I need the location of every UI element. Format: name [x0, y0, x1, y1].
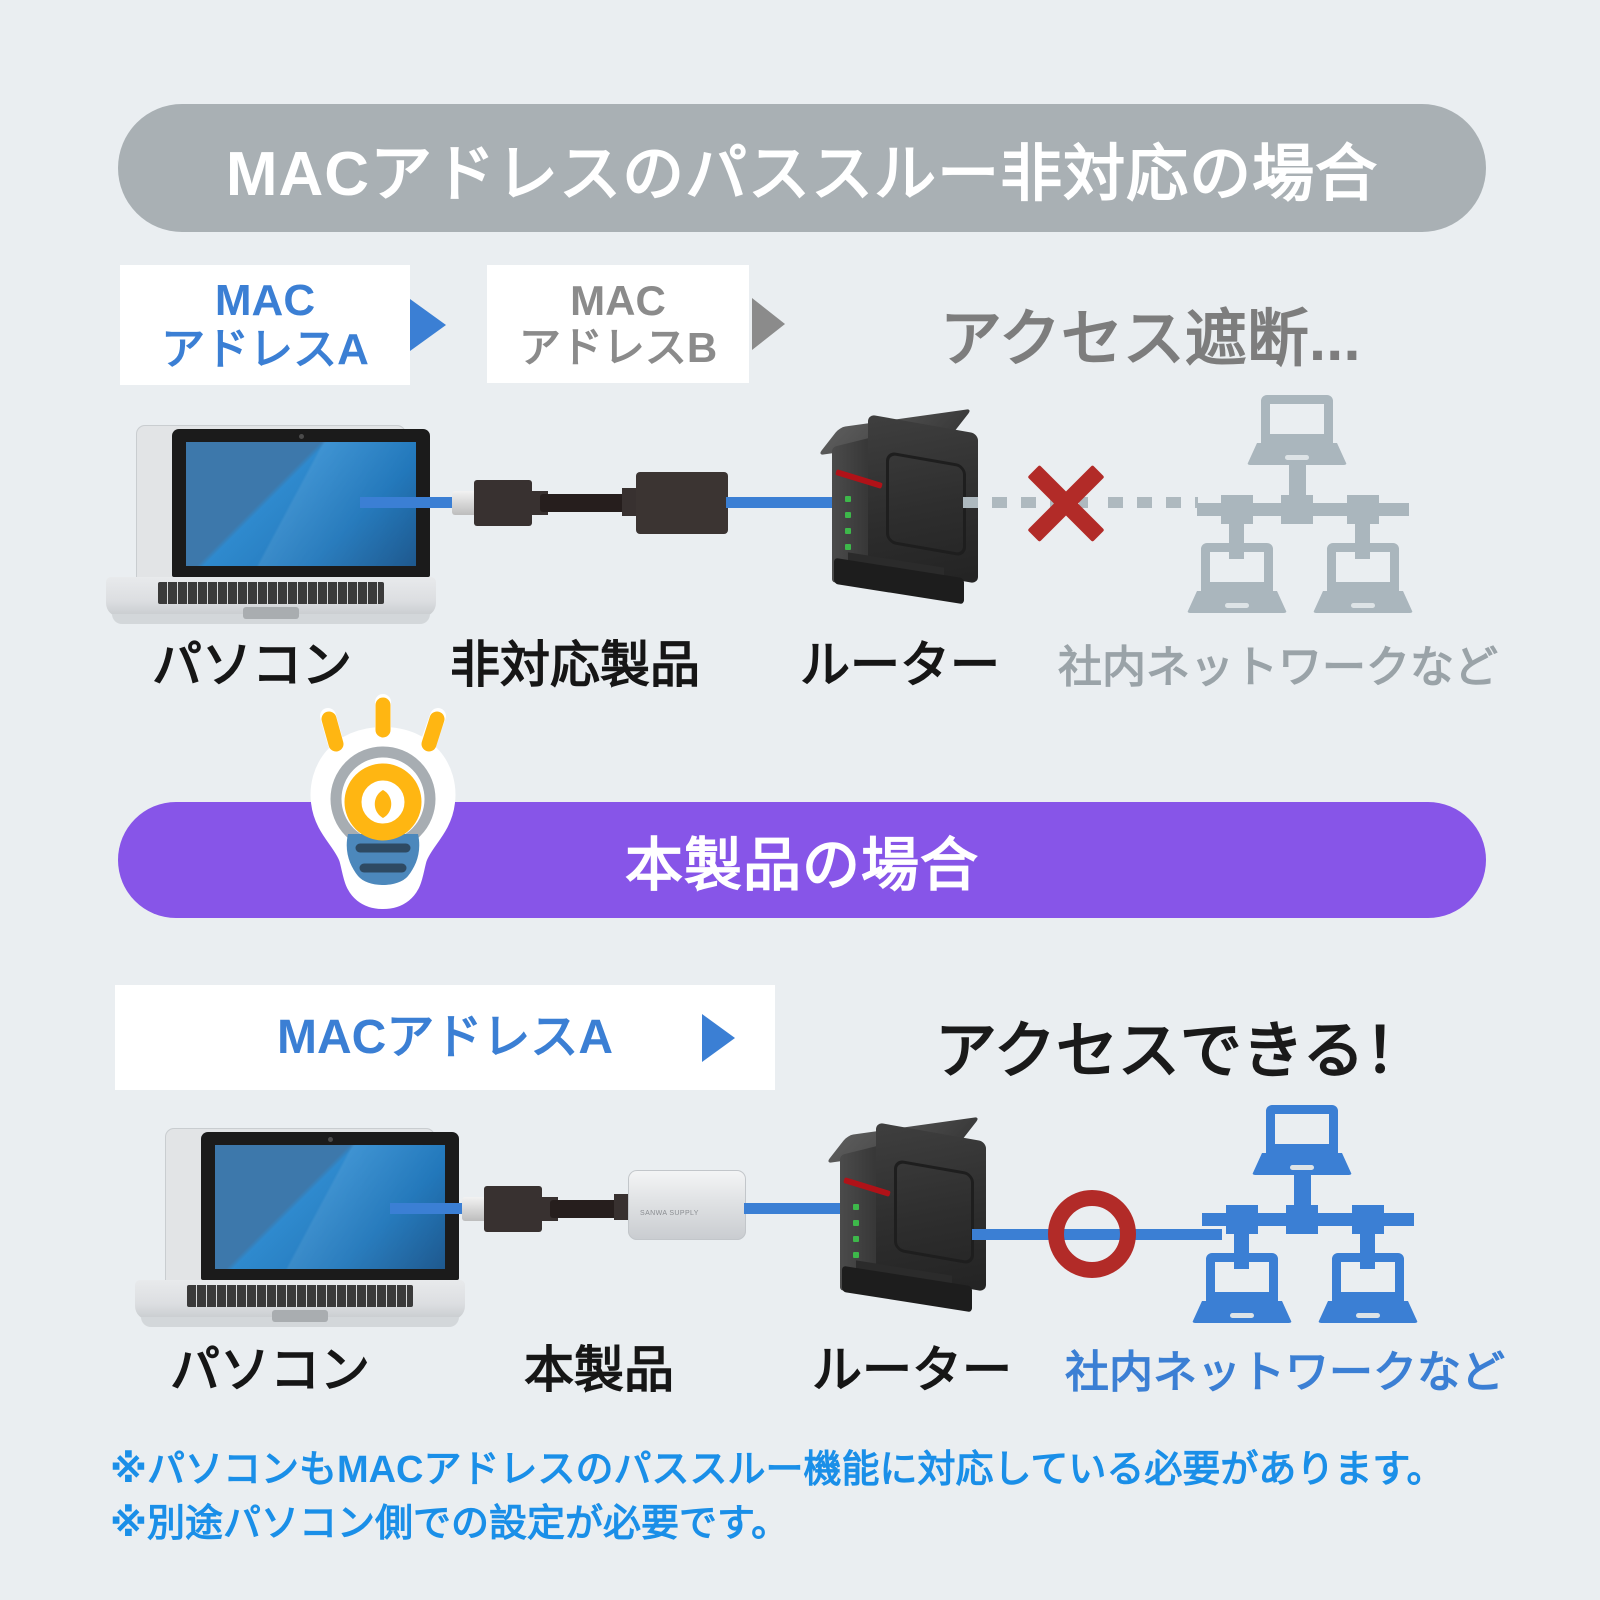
network-node [1226, 1205, 1258, 1234]
caption-product: 本製品 [524, 1330, 674, 1402]
diagram-canvas: MACアドレスのパススルー非対応の場合 MAC アドレスA MAC アドレスB … [0, 0, 1600, 1600]
lightbulb-svg [288, 686, 478, 916]
cable-segment [360, 497, 460, 508]
access-blocked-x-icon [1020, 457, 1112, 549]
unsupported-banner-title: MACアドレスのパススルー非対応の場合 [226, 123, 1378, 213]
router-led [845, 528, 851, 534]
adapter-cord [540, 494, 630, 512]
router-icon [818, 1118, 998, 1308]
arrow-right-icon [702, 1014, 735, 1062]
caption-router-2: ルーター [812, 1330, 1012, 1402]
mac-address-a-tag: MAC アドレスA [120, 265, 410, 385]
footnote-2: ※別途パソコン側での設定が必要です。 [110, 1492, 789, 1547]
router-led [845, 544, 851, 550]
access-allowed-o-icon [1048, 1190, 1136, 1278]
arrow-right-icon [410, 299, 446, 351]
access-allowed-text: アクセスできる！ [935, 1000, 1427, 1090]
laptop-trackpad [272, 1310, 328, 1322]
mac-address-b-line2: アドレスB [519, 324, 717, 371]
network-node [1221, 495, 1253, 524]
mac-address-a-line1: MAC [161, 276, 369, 325]
mac-address-a-line2: アドレスA [161, 325, 369, 374]
router-led [853, 1236, 859, 1242]
laptop-trackpad [243, 607, 299, 619]
laptop-icon [106, 425, 436, 625]
laptop-keyboard [158, 582, 384, 604]
router-led [853, 1220, 859, 1226]
laptop-camera-icon [328, 1137, 333, 1142]
caption-unsupported-product: 非対応製品 [450, 625, 700, 697]
network-topology-icon [1185, 395, 1455, 610]
cable-segment [390, 1203, 470, 1214]
network-node [1352, 1205, 1384, 1234]
laptop-keyboard [187, 1285, 413, 1307]
lightbulb-icon [288, 686, 478, 916]
unsupported-banner: MACアドレスのパススルー非対応の場合 [118, 104, 1486, 232]
network-node [1281, 495, 1313, 524]
product-banner-title: 本製品の場合 [625, 818, 979, 902]
router-led [845, 512, 851, 518]
adapter-brand-label: SANWA SUPPLY [640, 1210, 699, 1217]
router-led [853, 1204, 859, 1210]
laptop-camera-icon [299, 434, 304, 439]
mac-address-a-tag-product: MACアドレスA [115, 985, 775, 1090]
caption-network-2: 社内ネットワークなど [1065, 1336, 1505, 1400]
adapter-cord [550, 1200, 622, 1218]
router-led [845, 496, 851, 502]
mac-address-a-label: MACアドレスA [277, 1011, 613, 1065]
mac-address-b-tag: MAC アドレスB [487, 265, 749, 383]
mac-address-b-line1: MAC [519, 277, 717, 324]
connector-plug [474, 480, 532, 526]
arrow-right-icon [752, 298, 785, 350]
router-led [853, 1252, 859, 1258]
adapter-icon [636, 472, 728, 534]
router-panel [886, 451, 966, 557]
network-node [1347, 495, 1379, 524]
laptop-icon [135, 1128, 465, 1328]
caption-router-1: ルーター [800, 625, 1000, 697]
caption-network-1: 社内ネットワークなど [1058, 631, 1498, 695]
access-blocked-text: アクセス遮断... [940, 288, 1361, 378]
caption-pc-2: パソコン [170, 1330, 370, 1402]
adapter-icon: SANWA SUPPLY [628, 1170, 746, 1240]
network-node [1286, 1205, 1318, 1234]
footnote-1: ※パソコンもMACアドレスのパススルー機能に対応している必要があります。 [110, 1438, 1445, 1493]
connector-plug [484, 1186, 542, 1232]
network-topology-icon [1190, 1105, 1460, 1320]
router-panel [894, 1159, 974, 1265]
